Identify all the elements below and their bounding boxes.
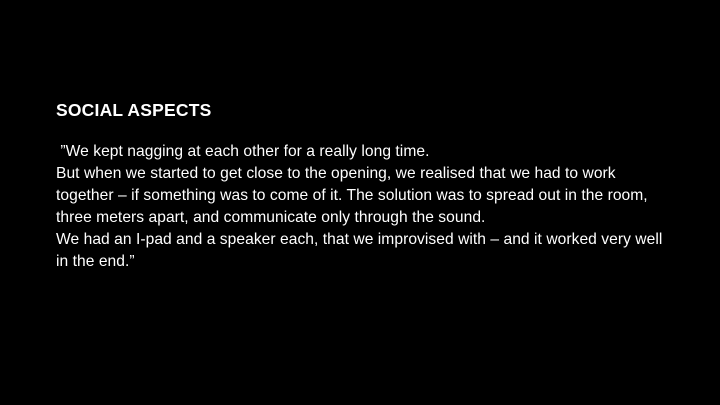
presentation-slide: SOCIAL ASPECTS ”We kept nagging at each … bbox=[0, 0, 720, 405]
quote-paragraph-1: ”We kept nagging at each other for a rea… bbox=[56, 141, 664, 163]
quote-paragraph-3: We had an I-pad and a speaker each, that… bbox=[56, 229, 664, 273]
page-title: SOCIAL ASPECTS bbox=[56, 100, 211, 121]
quote-body: ”We kept nagging at each other for a rea… bbox=[56, 141, 664, 273]
quote-paragraph-2: But when we started to get close to the … bbox=[56, 163, 664, 229]
